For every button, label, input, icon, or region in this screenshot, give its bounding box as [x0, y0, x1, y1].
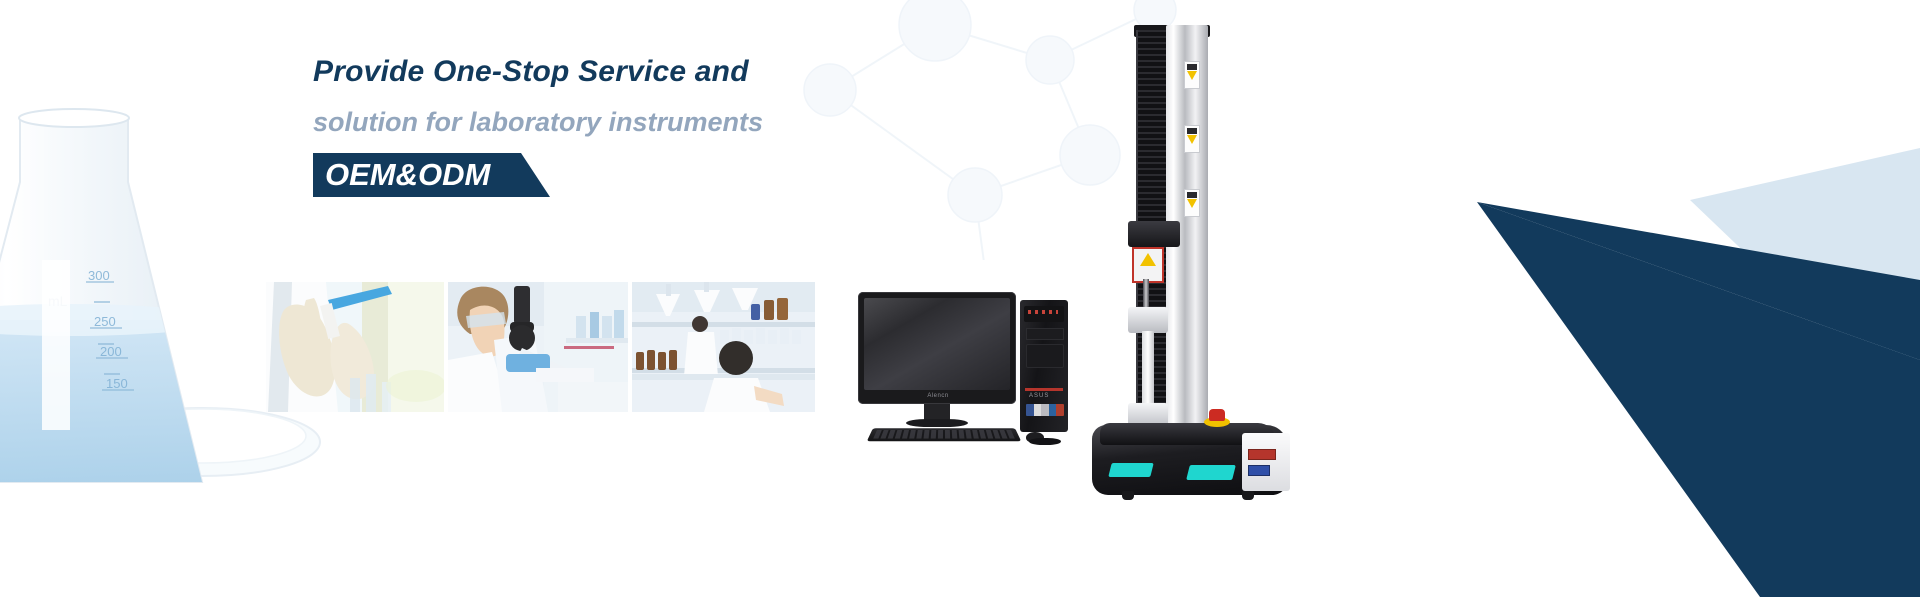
utm-accent-light-left: [1108, 463, 1153, 477]
utm-accent-light-right: [1186, 465, 1236, 480]
tower-top-panel: [1024, 306, 1064, 322]
headline-block: Provide One-Stop Service and solution fo…: [313, 52, 953, 197]
utm-crosshead: [1128, 221, 1180, 247]
utm-connecting-rod: [1143, 279, 1149, 309]
utm-connector-port-blue: [1248, 465, 1270, 476]
tower-optical-bay: [1026, 328, 1064, 340]
utm-warning-label-3: [1184, 189, 1200, 217]
monitor-brand-label: Alencn: [918, 393, 958, 400]
flask-highlight: [42, 260, 70, 430]
utm-upper-grip: [1128, 307, 1168, 333]
photo-lab-bench: [632, 282, 815, 412]
utm-foot-left: [1122, 491, 1134, 500]
utm-side-panel: [1242, 433, 1290, 491]
utm-specimen: [1142, 331, 1154, 405]
tower-indicator-lights: [1028, 310, 1058, 314]
triangle-light: [1690, 148, 1920, 420]
triangle-dark: [1477, 202, 1920, 597]
triangle-dark-upper: [1477, 202, 1920, 360]
monitor-screen: [864, 298, 1010, 390]
headline-line-2: solution for laboratory instruments: [313, 104, 953, 140]
utm-load-cell-warning: [1132, 247, 1164, 283]
keyboard: [867, 428, 1021, 441]
headline-line-1: Provide One-Stop Service and: [313, 52, 953, 92]
monitor: Alencn: [858, 292, 1016, 404]
svg-text:250: 250: [94, 314, 116, 329]
tower-foot: [1029, 438, 1061, 445]
utm-warning-label-2: [1184, 125, 1200, 153]
flask-rim: [19, 109, 129, 127]
tower-brand-label: ASUS: [1029, 393, 1049, 399]
monitor-stand-base: [906, 419, 968, 427]
utm-foot-right: [1242, 491, 1254, 500]
utm-emergency-stop-button[interactable]: [1209, 409, 1225, 421]
utm-connector-port-red: [1248, 449, 1276, 460]
utm-warning-label-1: [1184, 61, 1200, 89]
photo-strip: [266, 282, 815, 412]
desktop-computer-illustration: Alencn ASUS: [858, 292, 1068, 442]
hero-banner: 300 250 200 150 mL Provide One-Stop Serv…: [0, 0, 1920, 597]
oem-odm-badge: OEM&ODM: [313, 153, 508, 197]
badge-label: OEM&ODM: [313, 153, 508, 197]
svg-text:mL: mL: [48, 293, 68, 309]
photo-microscope: [448, 282, 628, 412]
universal-testing-machine-illustration: [1092, 25, 1302, 515]
svg-text:300: 300: [88, 268, 110, 283]
pc-tower: ASUS: [1020, 300, 1068, 432]
petri-dish: [84, 408, 320, 476]
svg-text:150: 150: [106, 376, 128, 391]
tower-stickers: [1026, 404, 1064, 416]
photo-pipetting: [266, 282, 444, 412]
svg-text:200: 200: [100, 344, 122, 359]
tower-front-panel: [1026, 344, 1064, 368]
tower-accent-stripe: [1025, 388, 1063, 391]
